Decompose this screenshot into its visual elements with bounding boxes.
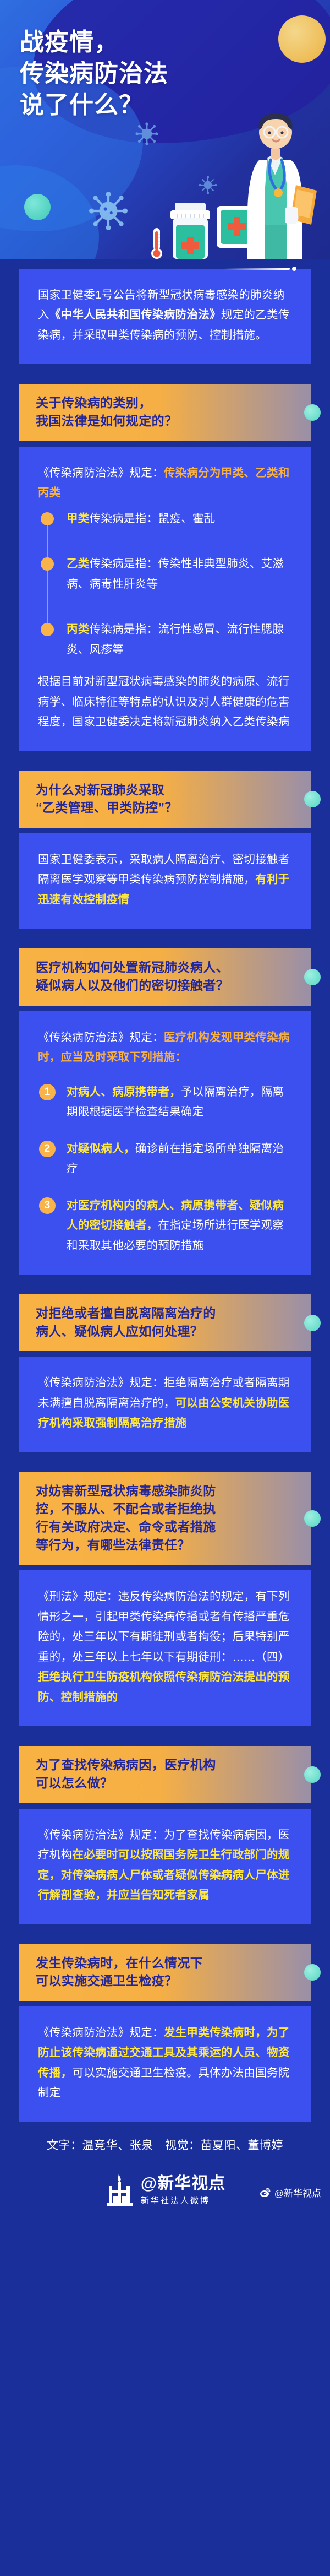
question-4-line-1: 对拒绝或者擅自脱离隔离治疗的 (36, 1304, 294, 1322)
answer-panel-2: 国家卫健委表示，采取病人隔离治疗、密切接触者隔离医学观察等甲类传染病预防控制措施… (19, 833, 311, 929)
thermometer-icon (150, 228, 164, 259)
category-text: 传染病是指：流行性感冒、流行性腮腺炎、风疹等 (67, 623, 284, 655)
answer-5-plain: 《刑法》规定：违反传染病防治法的规定，有下列情形之一，引起甲类传染病传播或者有传… (38, 1590, 290, 1663)
question-2-line-2: “乙类管理、甲类防控”？ (36, 799, 294, 817)
question-5-line-3: 行有关政府决定、命令或者措施 (36, 1518, 294, 1536)
answer-1-lead-plain: 《传染病防治法》规定： (38, 467, 164, 479)
category-label: 甲类 (67, 512, 90, 525)
question-5-line-1: 对妨害新型冠状病毒感染肺炎防 (36, 1482, 294, 1500)
weibo-icon (260, 2187, 271, 2198)
teal-dot-icon (304, 1766, 321, 1783)
answer-6-text: 《传染病防治法》规定：为了查找传染病病因，医疗机构在必要时可以按照国务院卫生行政… (38, 1825, 292, 1906)
weibo-handle: @新华视点 (274, 2185, 321, 2199)
title-line-3: 说了什么？ (20, 89, 168, 121)
doctor-illustration (220, 77, 324, 259)
category-text: 传染病是指：传染性非典型肺炎、艾滋病、病毒性肝炎等 (67, 557, 284, 590)
question-bar-6: 为了查找传染病病因，医疗机构 可以怎么做？ (19, 1746, 311, 1803)
intro-text: 国家卫健委1号公告将新型冠状病毒感染的肺炎纳入《中华人民共和国传染病防治法》规定… (38, 285, 292, 345)
teal-circle (24, 194, 51, 220)
teal-dot-icon (304, 1315, 321, 1331)
question-3-line-2: 疑似病人以及他们的密切接触者？ (36, 977, 294, 995)
panel-accent-line (224, 268, 290, 270)
bullet-dot-icon (41, 557, 54, 571)
question-6-line-1: 为了查找传染病病因，医疗机构 (36, 1756, 294, 1774)
question-7-line-1: 发生传染病时，在什么情况下 (36, 1954, 294, 1972)
list-number-badge: 3 (39, 1197, 56, 1214)
answer-panel-3: 《传染病防治法》规定：医疗机构发现甲类传染病时，应当及时采取下列措施： 1 对病… (19, 1011, 311, 1275)
question-7-line-2: 可以实施交通卫生检疫？ (36, 1972, 294, 1990)
answer-2-plain: 国家卫健委表示，采取病人隔离治疗、密切接触者隔离医学观察等甲类传染病预防控制措施… (38, 853, 290, 886)
teal-dot-icon (304, 791, 321, 807)
question-5-line-4: 等行为，有哪些法律责任？ (36, 1536, 294, 1554)
measure-highlight: 对病人、病原携带者， (67, 1086, 181, 1098)
question-bar-5: 对妨害新型冠状病毒感染肺炎防 控，不服从、不配合或者拒绝执 行有关政府决定、命令… (19, 1472, 311, 1565)
brand-name: @新华视点 (141, 2174, 226, 2193)
brand-text: @新华视点 新华社法人微博 (141, 2174, 226, 2206)
list-item: 2 对疑似病人，确诊前在指定场所单独隔离治疗 (38, 1139, 292, 1179)
list-item: 乙类传染病是指：传染性非典型肺炎、艾滋病、病毒性肝炎等 (38, 554, 292, 594)
answer-3-lead-plain: 《传染病防治法》规定： (38, 1031, 164, 1044)
virus-icon (198, 175, 218, 195)
answer-panel-4: 《传染病防治法》规定：拒绝隔离治疗或者隔离期未满擅自脱离隔离治疗的，可以由公安机… (19, 1357, 311, 1452)
disease-category-list: 甲类传染病是指：鼠疫、霍乱 乙类传染病是指：传染性非典型肺炎、艾滋病、病毒性肝炎… (38, 509, 292, 660)
question-bar-4: 对拒绝或者擅自脱离隔离治疗的 病人、疑似病人应如何处理？ (19, 1294, 311, 1351)
measure-highlight: 对疑似病人， (67, 1142, 135, 1155)
list-number-badge: 2 (39, 1141, 56, 1157)
answer-panel-6: 《传染病防治法》规定：为了查找传染病病因，医疗机构在必要时可以按照国务院卫生行政… (19, 1809, 311, 1924)
category-label: 丙类 (67, 623, 90, 636)
xinhua-logo-icon (105, 2174, 135, 2207)
medicine-bottle-icon (165, 203, 216, 259)
weibo-watermark: @新华视点 (260, 2185, 321, 2199)
law-name-emphasis: 《中华人民共和国传染病防治法》 (50, 308, 221, 321)
list-number-badge: 1 (39, 1084, 56, 1100)
brand-subtitle: 新华社法人微博 (141, 2194, 226, 2206)
answer-5-text: 《刑法》规定：违反传染病防治法的规定，有下列情形之一，引起甲类传染病传播或者有传… (38, 1587, 292, 1707)
page-title: 战疫情， 传染病防治法 说了什么？ (20, 26, 168, 121)
list-item: 1 对病人、病原携带者，予以隔离治疗，隔离期限根据医学检查结果确定 (38, 1082, 292, 1122)
panel-accent-dot (292, 267, 296, 271)
answer-panel-7: 《传染病防治法》规定：发生甲类传染病时，为了防止该传染病通过交通工具及其乘运的人… (19, 2006, 311, 2122)
title-line-2: 传染病防治法 (20, 58, 168, 89)
teal-dot-icon (304, 969, 321, 985)
question-3-line-1: 医疗机构如何处置新冠肺炎病人、 (36, 958, 294, 977)
teal-dot-icon (304, 404, 321, 421)
teal-dot-icon (304, 1964, 321, 1981)
answer-1-closing: 根据目前对新型冠状病毒感染的肺炎的病原、流行病学、临床特征等特点的认识及对人群健… (38, 672, 292, 732)
category-label: 乙类 (67, 557, 90, 570)
category-text: 传染病是指：鼠疫、霍乱 (90, 512, 216, 525)
answer-panel-5: 《刑法》规定：违反传染病防治法的规定，有下列情形之一，引起甲类传染病传播或者有传… (19, 1570, 311, 1726)
intro-panel: 国家卫健委1号公告将新型冠状病毒感染的肺炎纳入《中华人民共和国传染病防治法》规定… (19, 269, 311, 364)
question-1-line-1: 关于传染病的类别， (36, 394, 294, 412)
answer-7-plain-pre: 《传染病防治法》规定： (38, 2026, 164, 2039)
virus-icon (89, 192, 128, 230)
answer-7-plain-post: 可以实施交通卫生检疫。具体办法由国务院制定 (38, 2067, 290, 2099)
list-item: 3 对医疗机构内的病人、病原携带者、疑似病人的密切接触者，在指定场所进行医学观察… (38, 1196, 292, 1256)
answer-panel-1: 《传染病防治法》规定：传染病分为甲类、乙类和丙类 甲类传染病是指：鼠疫、霍乱 乙… (19, 447, 311, 751)
question-2-line-1: 为什么对新冠肺炎采取 (36, 781, 294, 799)
answer-3-lead: 《传染病防治法》规定：医疗机构发现甲类传染病时，应当及时采取下列措施： (38, 1028, 292, 1068)
title-line-1: 战疫情， (20, 26, 168, 58)
virus-icon (135, 122, 158, 145)
list-item: 丙类传染病是指：流行性感冒、流行性腮腺炎、风疹等 (38, 620, 292, 660)
credits-line: 文字：温竞华、张泉 视觉：苗夏阳、董博婷 (19, 2136, 311, 2153)
answer-1-lead: 《传染病防治法》规定：传染病分为甲类、乙类和丙类 (38, 463, 292, 503)
question-4-line-2: 病人、疑似病人应如何处理？ (36, 1322, 294, 1341)
question-bar-3: 医疗机构如何处置新冠肺炎病人、 疑似病人以及他们的密切接触者？ (19, 948, 311, 1005)
teal-dot-icon (304, 1510, 321, 1527)
answer-5-highlight: 拒绝执行卫生防疫机构依照传染病防治法提出的预防、控制措施的 (38, 1671, 290, 1703)
question-6-line-2: 可以怎么做？ (36, 1774, 294, 1792)
hero-banner: 战疫情， 传染病防治法 说了什么？ (0, 0, 330, 259)
bullet-dot-icon (41, 623, 54, 636)
answer-7-text: 《传染病防治法》规定：发生甲类传染病时，为了防止该传染病通过交通工具及其乘运的人… (38, 2023, 292, 2103)
question-bar-2: 为什么对新冠肺炎采取 “乙类管理、甲类防控”？ (19, 771, 311, 828)
bullet-dot-icon (41, 512, 54, 525)
question-5-line-2: 控，不服从、不配合或者拒绝执 (36, 1500, 294, 1518)
question-1-line-2: 我国法律是如何规定的？ (36, 412, 294, 430)
sun-circle (278, 15, 326, 63)
question-bar-1: 关于传染病的类别， 我国法律是如何规定的？ (19, 384, 311, 441)
answer-2-text: 国家卫健委表示，采取病人隔离治疗、密切接触者隔离医学观察等甲类传染病预防控制措施… (38, 850, 292, 910)
question-bar-7: 发生传染病时，在什么情况下 可以实施交通卫生检疫？ (19, 1944, 311, 2001)
measures-list: 1 对病人、病原携带者，予以隔离治疗，隔离期限根据医学检查结果确定 2 对疑似病… (38, 1082, 292, 1256)
list-item: 甲类传染病是指：鼠疫、霍乱 (38, 509, 292, 529)
answer-6-highlight: 在必要时可以按照国务院卫生行政部门的规定，对传染病病人尸体或者疑似传染病病人尸体… (38, 1848, 290, 1901)
answer-4-text: 《传染病防治法》规定：拒绝隔离治疗或者隔离期未满擅自脱离隔离治疗的，可以由公安机… (38, 1373, 292, 1433)
